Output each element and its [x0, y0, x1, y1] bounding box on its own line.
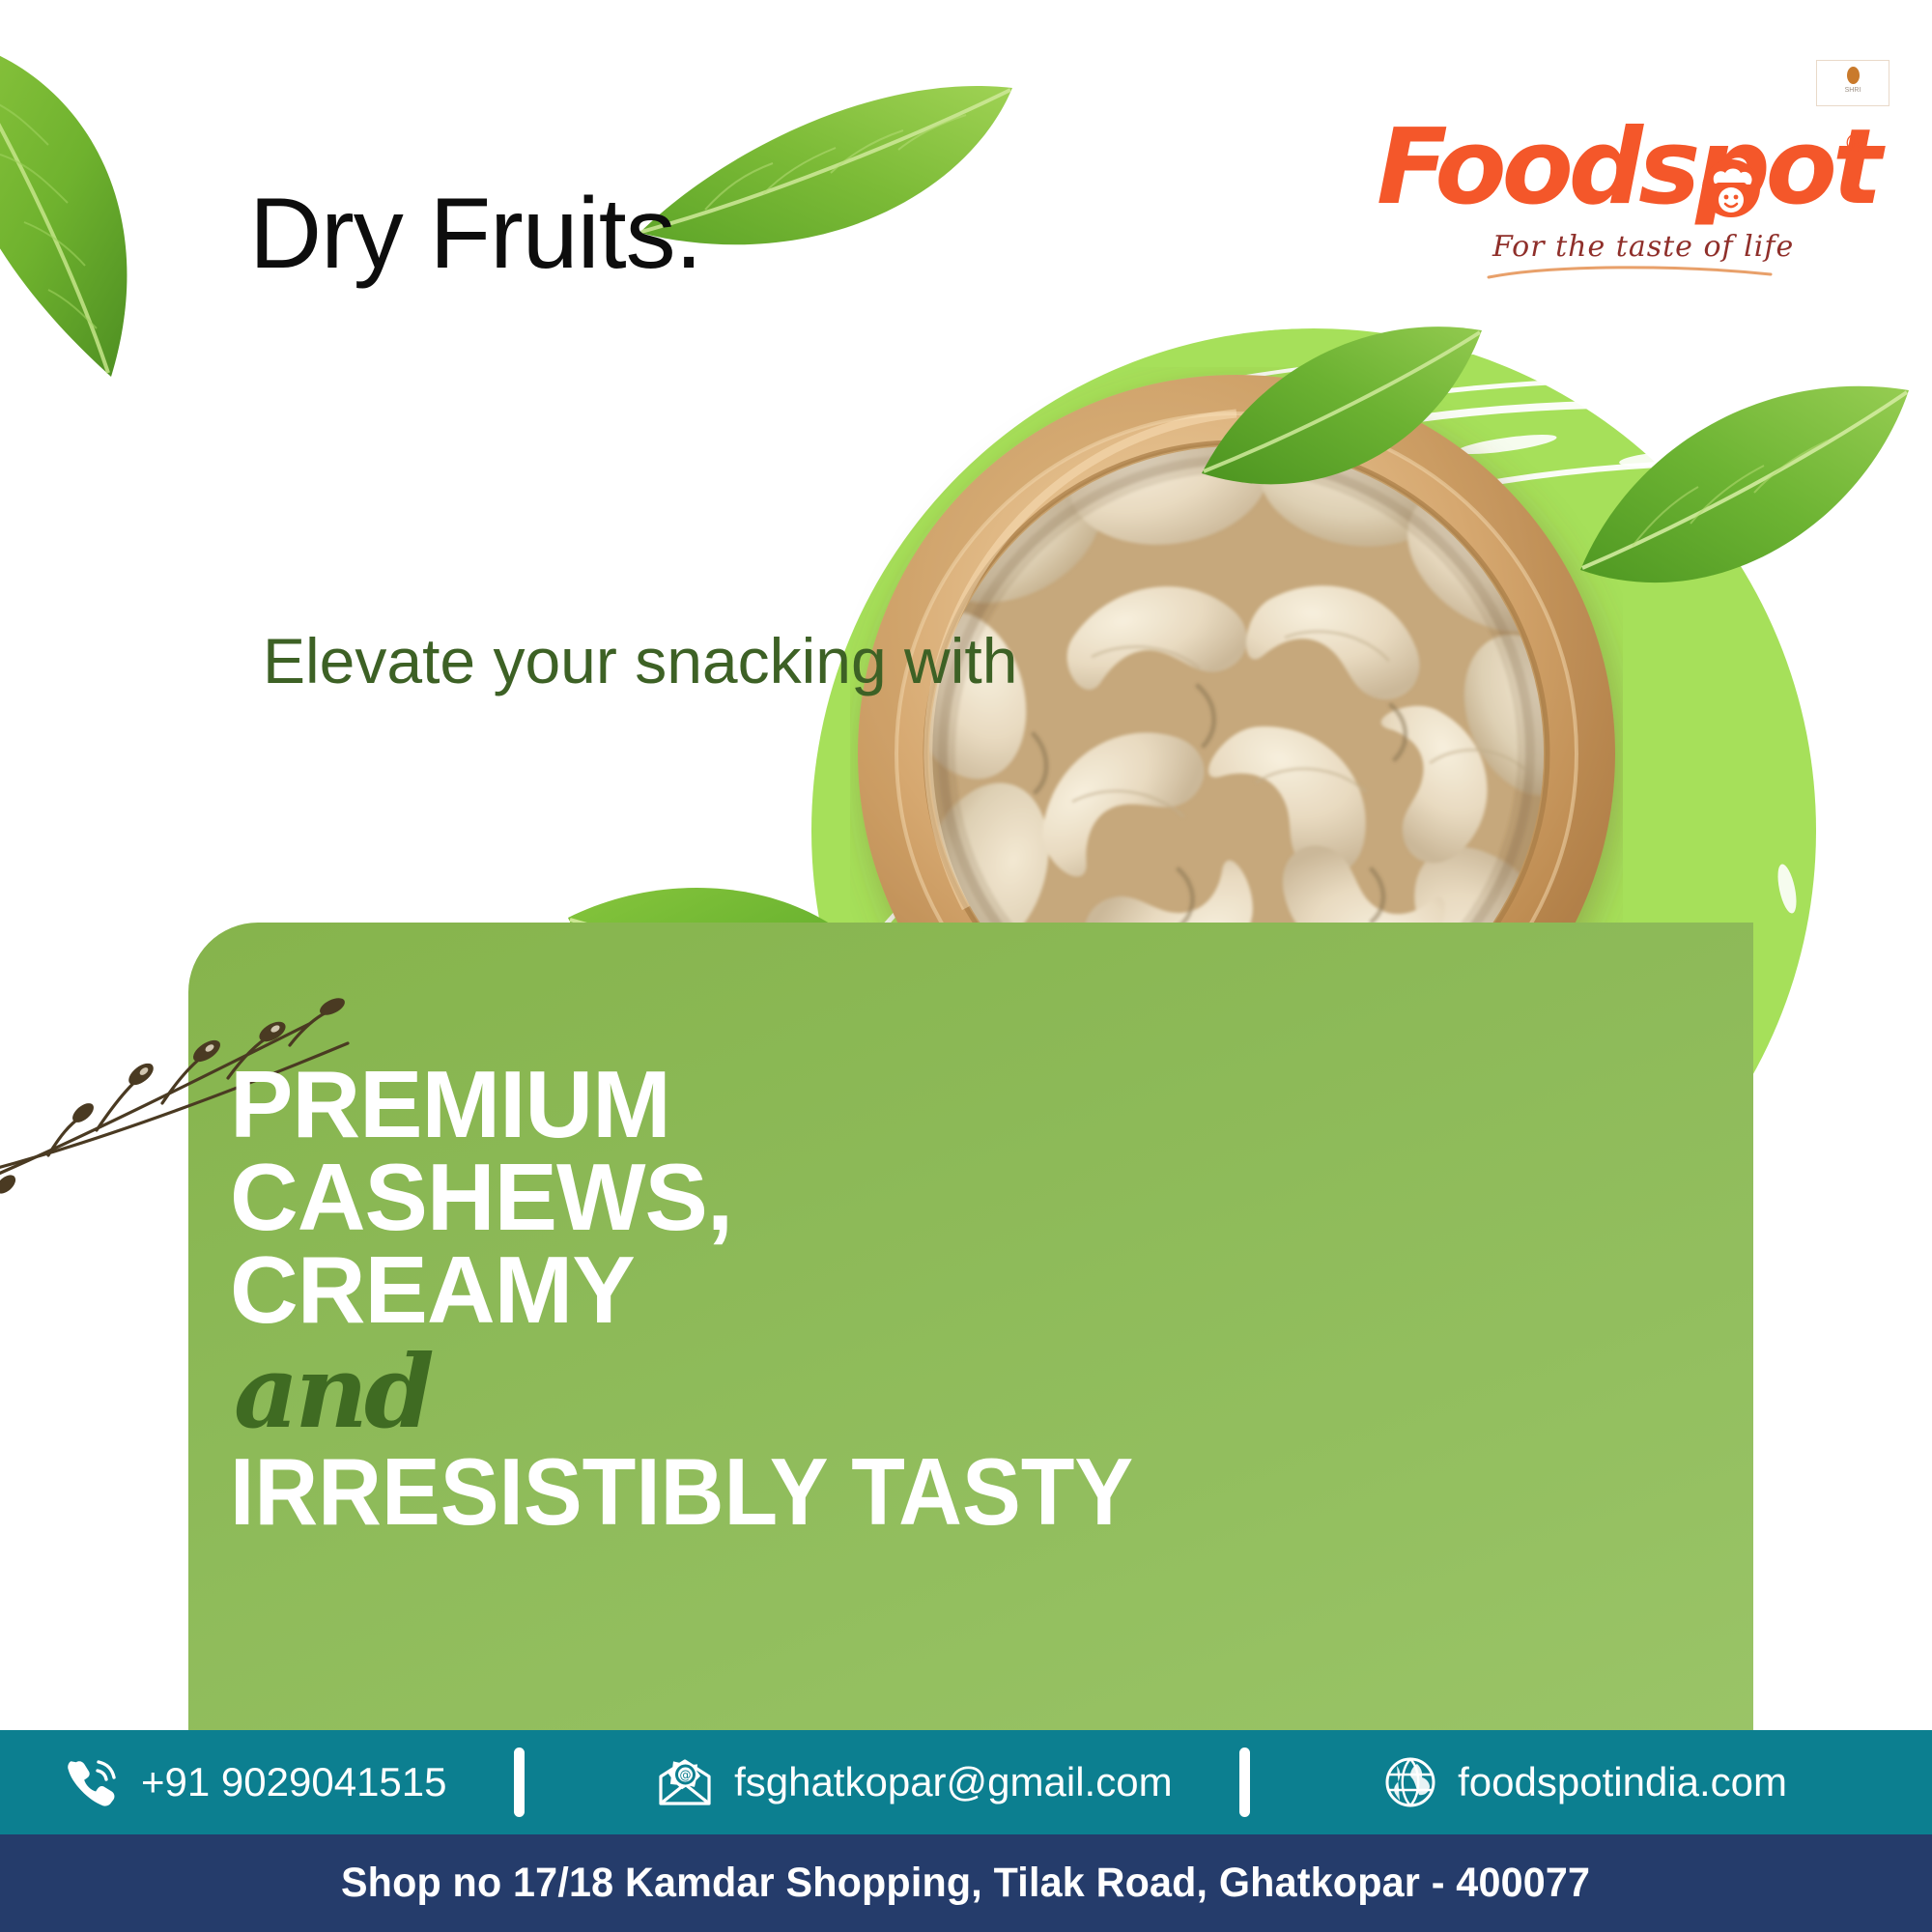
address-text: Shop no 17/18 Kamdar Shopping, Tilak Roa… — [341, 1860, 1590, 1907]
subheading-text: Elevate your snacking with — [263, 625, 1017, 696]
leaf-top-left-icon — [0, 39, 232, 425]
contact-bar: +91 9029041515 @ fsghatkopar@gmail.com — [0, 1730, 1932, 1834]
chef-face-icon — [1701, 158, 1761, 218]
globe-icon — [1384, 1756, 1436, 1808]
headline-line-4: IRRESISTIBLY TASTY — [230, 1444, 1308, 1539]
registered-trademark-icon: ® — [1843, 131, 1863, 156]
headline-line-3: CREAMY — [230, 1243, 1389, 1336]
brand-tagline: For the taste of life — [1492, 230, 1794, 264]
contact-website-text: foodspotindia.com — [1458, 1759, 1787, 1805]
subheading: Elevate your snacking with — [263, 626, 1017, 697]
svg-text:@: @ — [680, 1769, 692, 1782]
contact-phone-text: +91 9029041515 — [141, 1759, 447, 1805]
brand-name: Foodspot ® — [1377, 116, 1860, 220]
page-title: Dry Fruits. — [249, 184, 702, 284]
tagline-underline-icon — [1485, 263, 1775, 282]
email-icon: @ — [657, 1757, 713, 1807]
corner-badge-text: SHRI — [1823, 87, 1883, 97]
contact-email-text: fsghatkopar@gmail.com — [734, 1759, 1173, 1805]
headline-line-1: PREMIUM — [230, 1058, 1389, 1151]
contact-phone[interactable]: +91 9029041515 — [66, 1755, 447, 1809]
contact-divider-2 — [1239, 1747, 1250, 1817]
headline-line-2: CASHEWS, — [230, 1151, 1389, 1243]
headline-block: PREMIUM CASHEWS, CREAMY and IRRESISTIBLY… — [230, 1058, 1389, 1539]
brand-name-text: Foodspot — [1377, 107, 1878, 228]
phone-icon — [66, 1755, 120, 1809]
contact-divider-1 — [514, 1747, 525, 1817]
corner-badge-mark-icon — [1847, 67, 1860, 84]
corner-watermark-badge: SHRI — [1816, 60, 1889, 106]
address-bar: Shop no 17/18 Kamdar Shopping, Tilak Roa… — [0, 1834, 1932, 1932]
contact-email[interactable]: @ fsghatkopar@gmail.com — [657, 1757, 1173, 1807]
poster-canvas: Dry Fruits. Elevate your snacking with P… — [0, 0, 1932, 1932]
contact-website[interactable]: foodspotindia.com — [1384, 1756, 1787, 1808]
headline-connector: and — [234, 1342, 1389, 1442]
brand-logo[interactable]: Foodspot ® For the taste of life — [1377, 116, 1860, 309]
